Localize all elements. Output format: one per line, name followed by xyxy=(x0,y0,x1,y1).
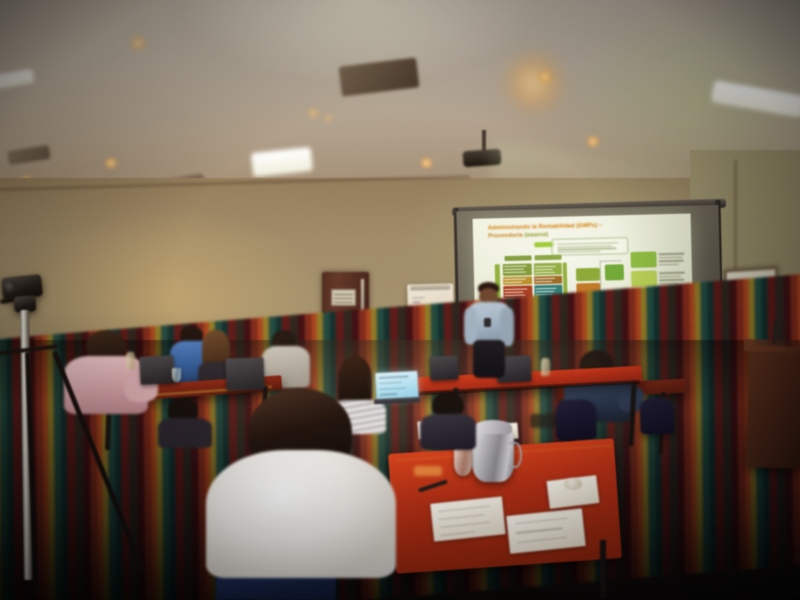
presenter-badge xyxy=(484,318,491,327)
handout-paper[interactable] xyxy=(506,508,586,554)
slide-bullet-group xyxy=(659,252,688,266)
attendee-side xyxy=(158,398,216,446)
desk-clutter xyxy=(414,466,442,476)
table-leg xyxy=(600,540,606,598)
torso xyxy=(158,418,212,448)
recessed-downlight xyxy=(586,136,600,147)
attendee-front-white-shirt xyxy=(206,388,406,578)
chair[interactable] xyxy=(555,399,596,440)
slide-result-box xyxy=(631,270,658,286)
matrix-header-left xyxy=(505,256,532,261)
laptop[interactable] xyxy=(225,357,264,390)
chair[interactable] xyxy=(639,397,674,434)
water-bottle[interactable] xyxy=(541,358,550,376)
recessed-downlight xyxy=(306,108,320,118)
torso xyxy=(206,450,396,578)
wooden-podium xyxy=(746,345,800,469)
flipchart-clip xyxy=(410,285,451,291)
slide-callout-box xyxy=(552,237,628,255)
recessed-downlight xyxy=(537,71,553,83)
recessed-downlight xyxy=(420,158,433,168)
recessed-downlight xyxy=(323,114,333,122)
torso xyxy=(420,414,476,450)
laptop[interactable] xyxy=(429,355,458,380)
matrix-cell xyxy=(502,263,532,276)
door-sign xyxy=(331,289,357,306)
pitcher-handle xyxy=(509,442,522,468)
matrix-cell xyxy=(533,262,561,274)
camera-lens-icon xyxy=(4,281,16,293)
recessed-downlight xyxy=(104,158,118,168)
matrix-header-right xyxy=(535,255,562,260)
attendee-dark-top xyxy=(418,392,480,448)
presenter-standing xyxy=(462,282,516,376)
recessed-downlight xyxy=(128,36,148,50)
laptop[interactable] xyxy=(139,355,174,385)
arm-left xyxy=(464,308,477,344)
drinking-glass[interactable] xyxy=(454,448,472,476)
ceiling-light-glow xyxy=(502,50,566,114)
drinking-glass[interactable] xyxy=(172,368,181,382)
water-bottle[interactable] xyxy=(126,352,135,370)
slide-title: Administrando la Rentabilidad (GMPs) – P… xyxy=(488,220,676,241)
slide-flow-box xyxy=(605,264,625,280)
slide-connector xyxy=(600,260,622,262)
coffee-cup[interactable] xyxy=(564,478,582,490)
handout-paper[interactable] xyxy=(430,496,506,541)
conference-room-photo: Administrando la Rentabilidad (GMPs) – P… xyxy=(0,0,800,600)
slide-result-box xyxy=(630,251,657,267)
trousers xyxy=(473,340,505,378)
matrix-cell xyxy=(534,275,562,285)
slide-flow-box xyxy=(576,267,600,281)
